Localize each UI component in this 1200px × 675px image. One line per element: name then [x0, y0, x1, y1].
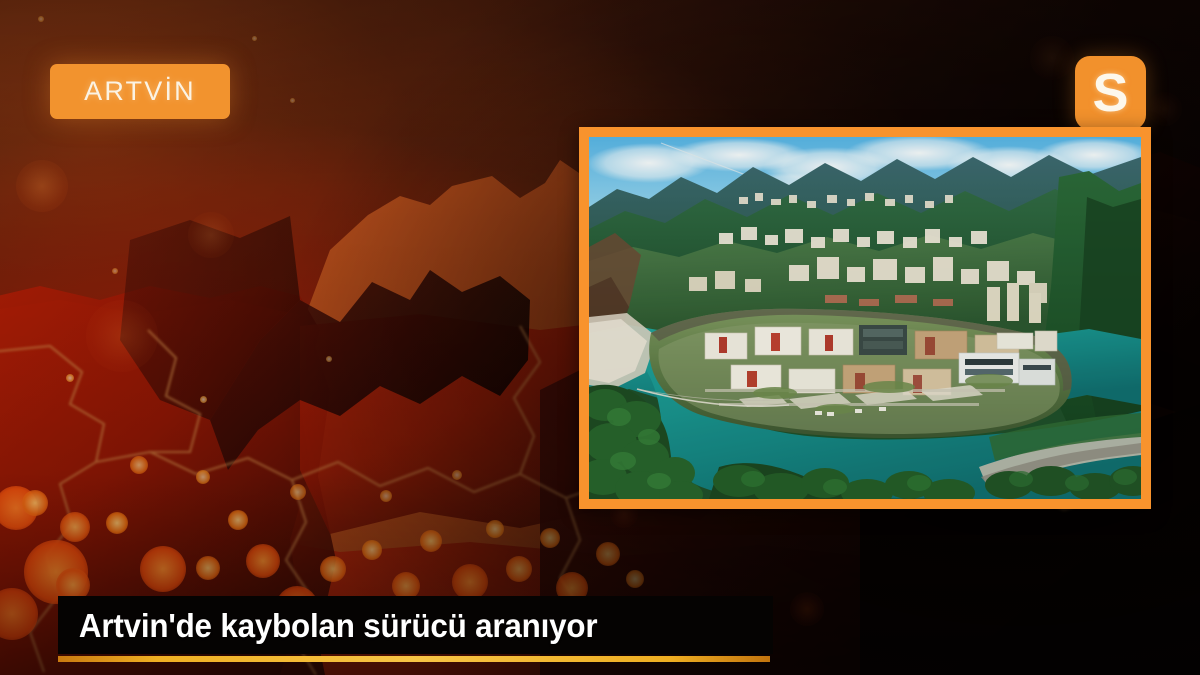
news-photo-card[interactable]: [579, 127, 1151, 509]
news-photo: [589, 137, 1141, 499]
sabah-logo-letter: S: [1092, 66, 1128, 120]
province-badge-label: ARTVİN: [84, 78, 196, 105]
province-badge[interactable]: ARTVİN: [50, 64, 230, 119]
news-card-stage: ARTVİN S: [0, 0, 1200, 675]
sabah-logo[interactable]: S: [1075, 56, 1146, 130]
page-title: Artvin'de kaybolan sürücü aranıyor: [58, 609, 597, 642]
artvin-aerial-photo-illustration: [589, 137, 1141, 499]
headline-bar: Artvin'de kaybolan sürücü aranıyor: [58, 596, 773, 654]
headline-accent-rule: [58, 656, 770, 662]
